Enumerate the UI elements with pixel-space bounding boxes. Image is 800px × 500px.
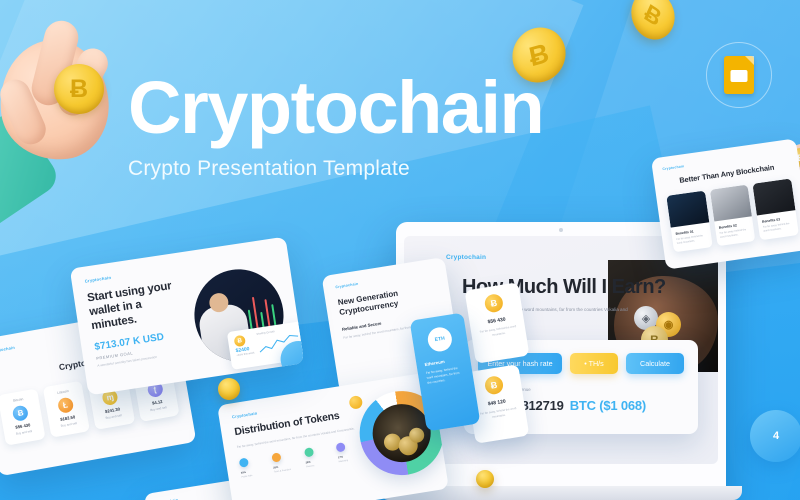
ethereum-icon: ETH	[426, 326, 453, 353]
benefit-paragraph: Far far away, behind the word mountains.	[676, 234, 707, 246]
calculate-button[interactable]: Calculate	[626, 353, 684, 374]
legend-item: 30% Public Sale	[239, 454, 270, 480]
legend-swatch	[271, 452, 281, 462]
list-item[interactable]: Benefits 01 Far far away, behind the wor…	[666, 191, 712, 253]
slide-card-blockchain[interactable]: Cryptochain Better Than Any Blockchain B…	[651, 138, 800, 269]
slide-headline: Start using your wallet in a minutes.	[86, 278, 184, 333]
unit-select-button[interactable]: • TH/s	[570, 353, 618, 374]
coin-tile-paragraph: Far far away, behind the word mountains.	[478, 324, 519, 340]
list-item[interactable]: Benefits 02 Far far away, behind the wor…	[709, 184, 755, 246]
coin-name: Litecoin	[47, 388, 79, 397]
ethereum-paragraph: Far far away, behind the word mountains,…	[426, 365, 466, 386]
distribution-text-block: Distribution of Tokens Far far away, beh…	[234, 407, 367, 480]
floating-bitcoin-coin	[218, 378, 240, 400]
page-subtitle: Crypto Presentation Template	[128, 157, 543, 181]
benefit-paragraph: Far far away, behind the word mountains.	[719, 228, 750, 240]
coin-tile-paragraph: Far far away, behind the word mountains.	[478, 406, 519, 422]
coin-icon: Ƀ	[234, 335, 247, 348]
floating-bitcoin-coin	[476, 470, 494, 488]
google-slides-icon	[724, 56, 754, 94]
slide-brand: Cryptochain	[446, 254, 486, 261]
webcam-dot	[559, 228, 563, 232]
coin-icon: Ƀ	[12, 405, 29, 422]
bitcoin-coin-icon: Ƀ	[54, 64, 104, 114]
legend-swatch	[239, 457, 249, 467]
benefit-image	[709, 184, 752, 221]
coin-icon: Ƀ	[484, 375, 505, 396]
wallet-text-block: Start using your wallet in a minutes. $7…	[86, 278, 192, 383]
legend-item: 28% Reserve	[303, 444, 334, 470]
slide-headline: New Generation Cryptocurrency	[337, 283, 439, 318]
page-number-badge: 4	[750, 410, 800, 462]
benefit-paragraph: Far far away, behind the word mountains.	[763, 222, 794, 234]
list-item[interactable]: Benefits 03 Far far away, behind the wor…	[753, 178, 799, 240]
mini-card-left: Ƀ $2400 +24% this week	[234, 334, 256, 364]
hero-text-block: Cryptochain Crypto Presentation Template	[128, 72, 543, 181]
legend-item: 25% Team & Founders	[271, 449, 302, 475]
benefit-image	[753, 178, 796, 215]
legend-swatch	[336, 442, 346, 452]
slides-frame-glyph	[731, 70, 748, 82]
page-title: Cryptochain	[128, 72, 543, 143]
coin-tile[interactable]: Ƀ $56 430 Far far away, behind the word …	[465, 282, 530, 364]
estimate-unit: BTC ($1 068)	[570, 398, 646, 413]
coin-name: Bitcoin	[2, 395, 34, 404]
poster-canvas: Ƀ Ƀ Ƀ Cryptochain Crypto Presentation Te…	[0, 0, 800, 500]
coin-icon: Ƀ	[484, 293, 505, 314]
benefits-list: Benefits 01 Far far away, behind the wor…	[666, 178, 799, 252]
legend-swatch	[303, 447, 313, 457]
list-item[interactable]: Litecoin Ł $182.50 Buy and sell	[42, 381, 90, 438]
coin-icon: Ł	[57, 397, 74, 414]
format-badge[interactable]	[706, 42, 772, 108]
list-item[interactable]: Bitcoin Ƀ $56 430 Buy and sell	[0, 389, 45, 446]
benefit-image	[666, 191, 709, 228]
